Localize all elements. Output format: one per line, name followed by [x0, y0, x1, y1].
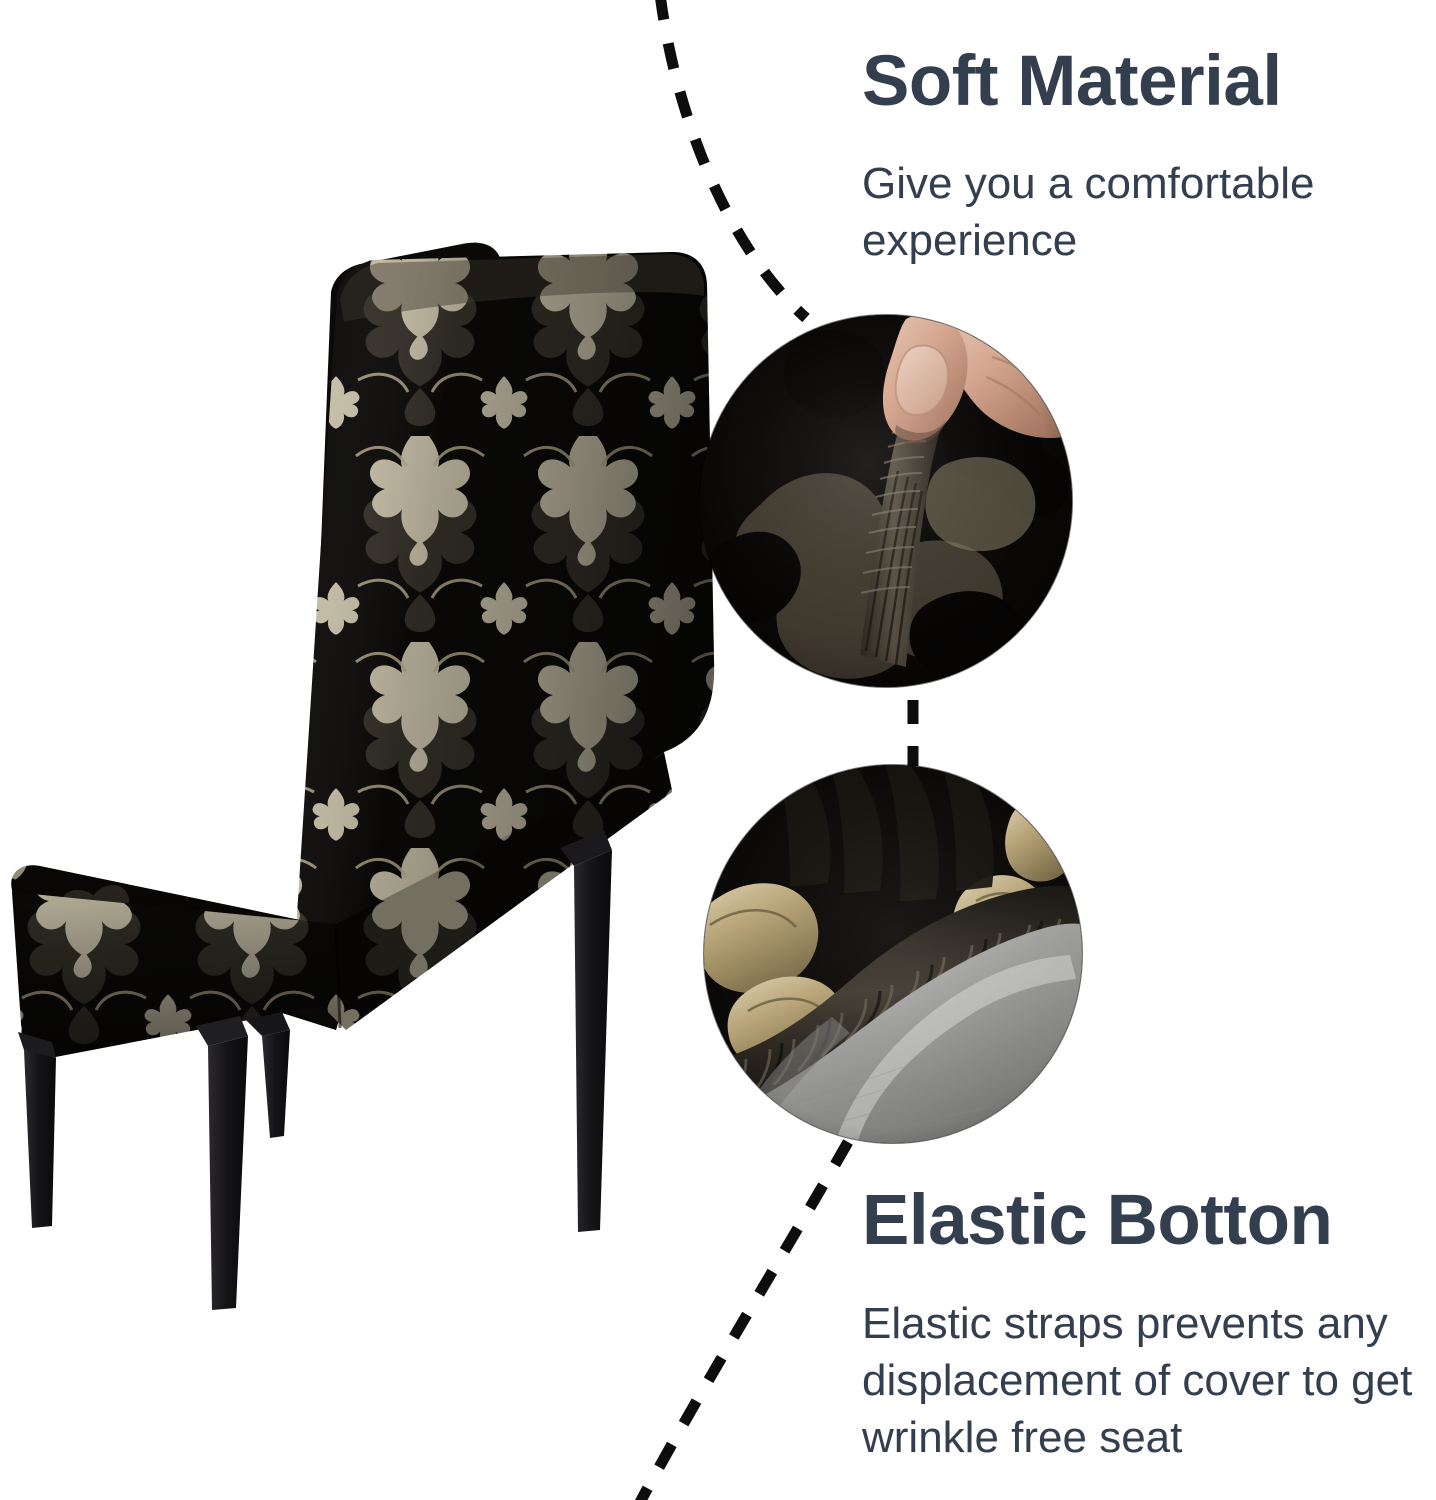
infographic-canvas: Soft Material Give you a comfortable exp… [0, 0, 1436, 1500]
feature-body-elastic-bottom: Elastic straps prevents any displacement… [862, 1295, 1436, 1467]
feature-title-soft-material: Soft Material [862, 46, 1282, 118]
fabric-pinch-photo [700, 315, 1072, 687]
product-chair-image [0, 230, 720, 1320]
feature-body-soft-material: Give you a comfortable experience [862, 155, 1382, 269]
feature-title-elastic-bottom: Elastic Botton [862, 1185, 1332, 1257]
elastic-hem-photo [704, 765, 1082, 1143]
